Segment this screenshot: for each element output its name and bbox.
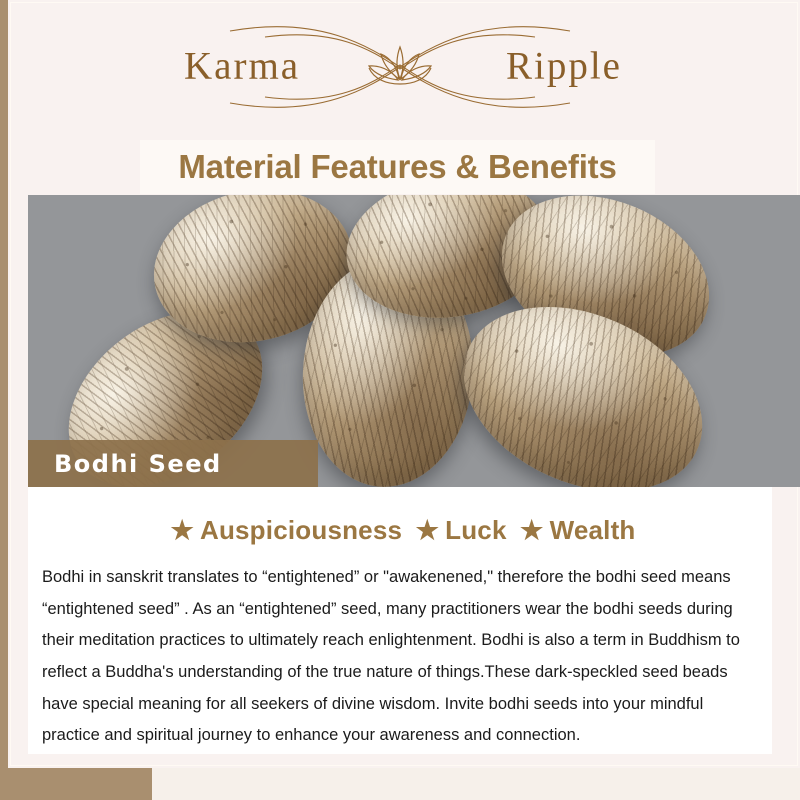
frame-bottom-right-fill <box>152 768 800 800</box>
seed-caption-bar: Bodhi Seed <box>28 440 318 487</box>
benefit-auspiciousness: Auspiciousness <box>200 515 402 545</box>
description-panel: ★Auspiciousness ★Luck ★Wealth Bodhi in s… <box>28 487 772 754</box>
benefits-headline: ★Auspiciousness ★Luck ★Wealth <box>28 487 772 546</box>
page-title: Material Features & Benefits <box>178 148 616 186</box>
seed-caption-label: Bodhi Seed <box>54 450 222 478</box>
brand-logo: Karma Ripple <box>170 19 630 115</box>
brand-name-right: Ripple <box>506 44 622 89</box>
benefit-wealth: Wealth <box>550 515 636 545</box>
title-banner: Material Features & Benefits <box>140 140 655 194</box>
benefit-luck: Luck <box>445 515 506 545</box>
star-icon-1: ★ <box>170 515 194 546</box>
star-icon-2: ★ <box>416 515 440 546</box>
poster: Karma Ripple Material Features & Benefit… <box>0 0 800 800</box>
description-paragraph: Bodhi in sanskrit translates to “entight… <box>42 562 764 752</box>
brand-name-left: Karma <box>184 44 300 89</box>
brand-header: Karma Ripple <box>0 18 800 116</box>
star-icon-3: ★ <box>520 515 544 546</box>
